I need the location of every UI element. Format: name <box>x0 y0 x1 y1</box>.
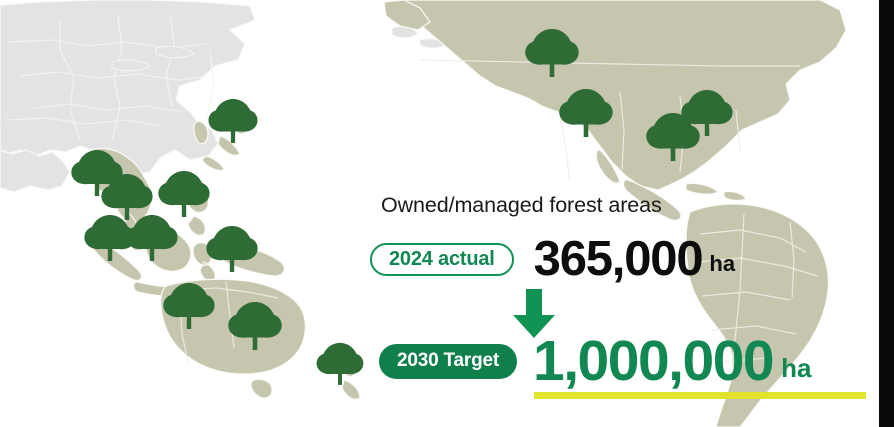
badge-2024-actual: 2024 actual <box>370 243 514 276</box>
badge-2030-target: 2030 Target <box>379 344 517 379</box>
page-title: Owned/managed forest areas <box>381 192 662 218</box>
target-metric-row: 2030 Target 1,000,000 ha <box>370 332 811 390</box>
infographic-root: Owned/managed forest areas 2024 actual 3… <box>0 0 894 427</box>
target-unit: ha <box>781 353 811 390</box>
target-value: 1,000,000 <box>533 333 773 390</box>
right-edge-strip <box>879 0 894 427</box>
target-underline <box>534 392 866 399</box>
actual-unit: ha <box>709 251 735 284</box>
target-number-wrap: 1,000,000 ha <box>533 333 811 390</box>
forest-area-panel: Owned/managed forest areas 2024 actual 3… <box>370 192 880 392</box>
actual-metric-row: 2024 actual 365,000 ha <box>370 234 735 284</box>
actual-value: 365,000 <box>534 235 703 284</box>
